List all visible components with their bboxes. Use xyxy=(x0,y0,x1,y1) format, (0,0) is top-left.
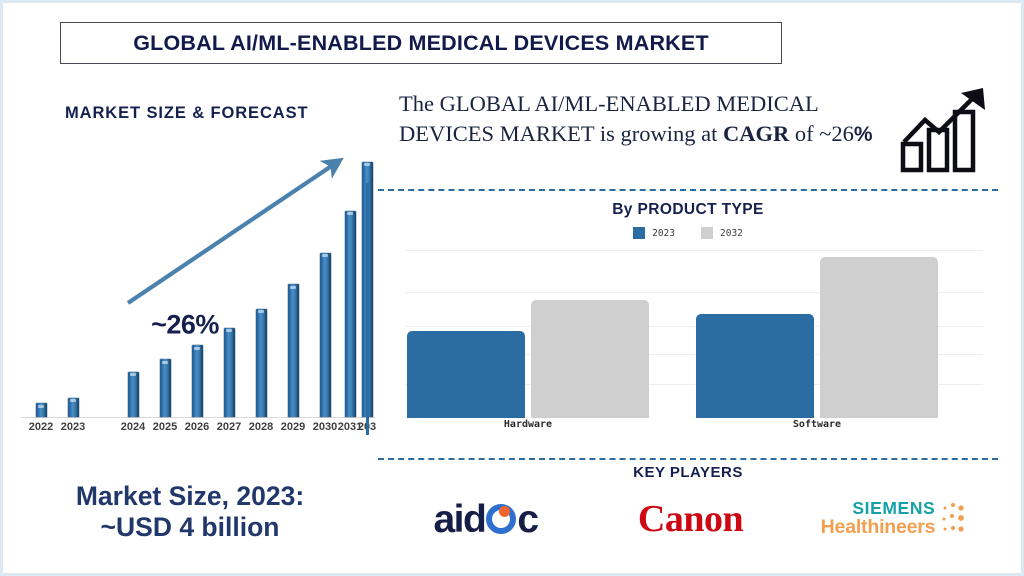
left-chart-year-label: 2022 xyxy=(29,421,53,433)
statement-part-2: of ~26 xyxy=(789,121,854,146)
title-box: GLOBAL AI/ML-ENABLED MEDICAL DEVICES MAR… xyxy=(60,22,782,64)
legend-label: 2023 xyxy=(652,228,675,239)
product-type-bar xyxy=(531,300,649,418)
product-type-category-label: Hardware xyxy=(504,419,552,430)
left-chart-bar xyxy=(256,309,267,418)
key-players-title: KEY PLAYERS xyxy=(378,464,998,481)
growth-bar-chart-arrow-icon xyxy=(899,86,991,174)
key-players-row: aidc Canon SIEMENS Healthineers xyxy=(383,488,998,550)
canon-logo: Canon xyxy=(638,500,743,538)
statement-percent: % xyxy=(854,123,873,146)
aidoc-logo: aidc xyxy=(433,500,537,539)
product-type-chart xyxy=(405,250,983,418)
market-size-line-1: Market Size, 2023: xyxy=(76,481,304,511)
market-size-forecast-chart: 2022202320242025202620272028202920302031… xyxy=(3,143,375,448)
left-chart-bar xyxy=(160,359,171,417)
left-chart-bar xyxy=(192,345,203,417)
legend-item[interactable]: 2032 xyxy=(701,227,743,239)
left-chart-year-label: 2026 xyxy=(185,421,209,433)
product-type-bar xyxy=(820,257,938,418)
product-type-legend: 20232032 xyxy=(378,227,998,239)
key-player-siemens-healthineers: SIEMENS Healthineers xyxy=(793,488,998,550)
left-chart-baseline xyxy=(21,417,375,418)
cagr-annotation: ~26% xyxy=(151,310,219,341)
legend-swatch xyxy=(701,227,713,239)
market-size-line-2: ~USD 4 billion xyxy=(101,512,280,542)
legend-item[interactable]: 2023 xyxy=(633,227,675,239)
dashed-divider-bottom xyxy=(378,458,998,460)
siemens-healthineers-logo: SIEMENS Healthineers xyxy=(821,500,971,538)
siemens-wordmark: SIEMENS Healthineers xyxy=(821,500,936,538)
vertical-divider xyxy=(366,183,369,435)
left-chart-bar xyxy=(128,372,139,418)
left-chart-year-label: 2030 xyxy=(313,421,337,433)
left-chart-category-labels: 2022202320242025202620272028202920302031… xyxy=(3,421,375,441)
product-type-chart-title: By PRODUCT TYPE xyxy=(378,201,998,219)
siemens-dot-pattern-icon xyxy=(940,502,970,536)
key-player-aidoc: aidc xyxy=(383,488,588,550)
market-size-callout: Market Size, 2023: ~USD 4 billion xyxy=(15,481,365,544)
page-title: GLOBAL AI/ML-ENABLED MEDICAL DEVICES MAR… xyxy=(133,31,709,56)
left-chart-year-label: 2027 xyxy=(217,421,241,433)
left-chart-bar xyxy=(320,253,331,418)
left-chart-bar xyxy=(36,403,47,417)
dashed-divider-top xyxy=(378,189,998,191)
gridline xyxy=(405,250,983,251)
market-size-forecast-heading: MARKET SIZE & FORECAST xyxy=(65,104,308,123)
infographic-canvas: GLOBAL AI/ML-ENABLED MEDICAL DEVICES MAR… xyxy=(0,0,1024,576)
left-chart-bar xyxy=(68,398,79,417)
aidoc-dot xyxy=(499,506,510,517)
left-chart-year-label: 2029 xyxy=(281,421,305,433)
left-chart-year-label: 2025 xyxy=(153,421,177,433)
left-chart-year-label: 2028 xyxy=(249,421,273,433)
siemens-logo-bottom: Healthineers xyxy=(821,518,936,538)
product-type-category-label: Software xyxy=(793,419,841,430)
aidoc-logo-part-ai: aid xyxy=(433,500,485,539)
legend-label: 2032 xyxy=(720,228,743,239)
product-type-category-labels: HardwareSoftware xyxy=(405,419,983,437)
aidoc-logo-o-mark-icon xyxy=(486,504,516,534)
aidoc-logo-part-c: c xyxy=(517,500,537,539)
product-type-bar xyxy=(696,314,814,418)
left-chart-year-label: 2024 xyxy=(121,421,145,433)
left-chart-bar xyxy=(288,284,299,417)
statement-bold-cagr: CAGR xyxy=(723,121,789,146)
left-chart-bar xyxy=(345,211,356,418)
left-chart-bar xyxy=(224,328,235,417)
product-type-bar xyxy=(407,331,525,418)
cagr-statement: The GLOBAL AI/ML-ENABLED MEDICAL DEVICES… xyxy=(399,89,891,149)
left-chart-year-label: 2023 xyxy=(61,421,85,433)
legend-swatch xyxy=(633,227,645,239)
left-chart-plot xyxy=(3,143,375,418)
key-player-canon: Canon xyxy=(588,488,793,550)
